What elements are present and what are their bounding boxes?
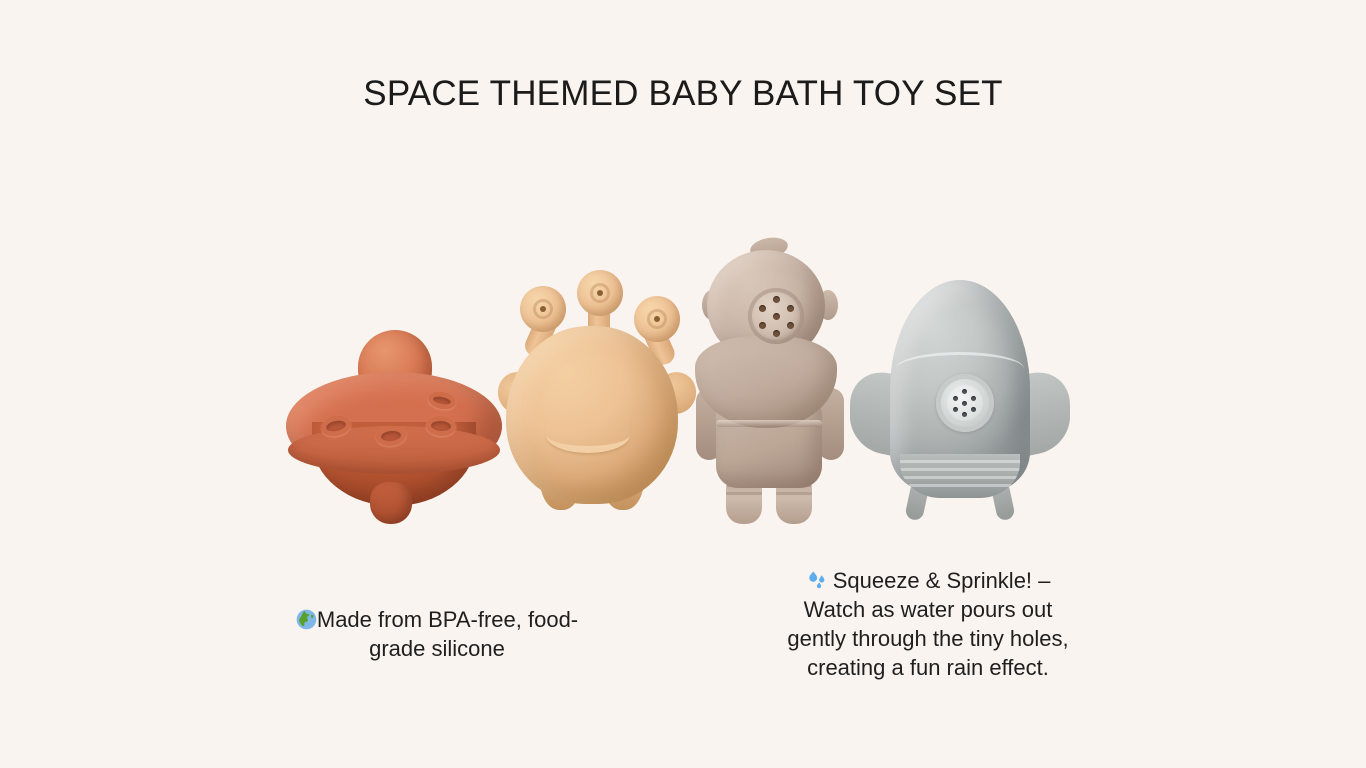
porthole-hole [962, 401, 967, 406]
rocket-landing-leg [990, 481, 1016, 522]
astronaut-leg [726, 476, 762, 524]
ufo-ring-detail [375, 424, 407, 447]
ufo-underside [312, 422, 476, 506]
alien-foot [602, 480, 644, 510]
visor-hole [773, 313, 780, 320]
astronaut-arm [696, 388, 722, 460]
rocket-base-rib [900, 468, 1020, 471]
product-image-group [0, 0, 1366, 768]
caption-material-text: Made from BPA-free, food-grade silicone [317, 607, 578, 661]
visor-hole [759, 322, 766, 329]
astronaut-leg-rib [726, 492, 762, 495]
astronaut-shoulder-cape [695, 336, 837, 428]
alien-arm [650, 367, 701, 419]
porthole-hole [953, 396, 958, 401]
visor-hole [773, 330, 780, 337]
astronaut-torso [716, 390, 822, 488]
alien-eye [634, 296, 680, 342]
caption-feature-text: Squeeze & Sprinkle! – Watch as water pou… [787, 568, 1068, 680]
rocket-base-rib [900, 476, 1020, 479]
rocket-fin [850, 365, 916, 461]
alien-eye-stalk [636, 310, 678, 368]
caption-material: Made from BPA-free, food-grade silicone [287, 605, 587, 663]
alien-eye-ring [647, 309, 667, 329]
rocket-porthole [936, 374, 994, 432]
rocket-base-rib [900, 484, 1020, 487]
alien-smile [546, 416, 630, 453]
alien-arm [492, 367, 543, 419]
ufo-collar [349, 384, 441, 410]
alien-eye-stalk [522, 300, 565, 360]
astronaut-arm [818, 388, 844, 460]
alien-pupil [540, 306, 546, 312]
alien-eye [520, 286, 566, 332]
astronaut-helmet [707, 250, 825, 362]
astronaut-visor [748, 288, 804, 344]
alien-pupil [654, 316, 660, 322]
visor-hole [759, 305, 766, 312]
visor-hole [773, 296, 780, 303]
visor-hole [787, 322, 794, 329]
rocket-landing-leg [904, 481, 930, 522]
astronaut-helmet-side-knob [702, 290, 722, 320]
alien-eye-ring [533, 299, 553, 319]
rocket-base-rib [900, 460, 1020, 463]
toy-ufo [286, 330, 502, 520]
alien-eye-ring [590, 283, 610, 303]
astronaut-helmet-side-knob [818, 290, 838, 320]
ufo-saucer [286, 372, 502, 480]
astronaut-leg [776, 476, 812, 524]
astronaut-belt [716, 420, 822, 427]
toy-astronaut [690, 238, 850, 524]
rocket-seam [896, 352, 1024, 385]
alien-body [506, 326, 678, 504]
rocket-fin [1004, 365, 1070, 461]
ufo-ring-detail [319, 413, 353, 439]
ufo-rim [288, 426, 500, 474]
ufo-dome [358, 330, 432, 404]
slide-canvas: SPACE THEMED BABY BATH TOY SET [0, 0, 1366, 768]
rocket-body [890, 280, 1030, 494]
porthole-hole [971, 407, 976, 412]
porthole-hole [962, 412, 967, 417]
caption-feature: Squeeze & Sprinkle! – Watch as water pou… [778, 566, 1078, 682]
alien-eye [577, 270, 623, 316]
alien-pupil [597, 290, 603, 296]
astronaut-leg-rib [776, 492, 812, 495]
porthole-hole [971, 396, 976, 401]
ufo-ring-detail [425, 415, 456, 437]
rocket-base [900, 454, 1020, 498]
astronaut-leg-rib [776, 484, 812, 487]
astronaut-antenna-knob [749, 235, 790, 261]
sweat-droplets-icon [806, 570, 827, 591]
globe-europe-africa-icon [296, 609, 317, 630]
toy-rocket [848, 278, 1072, 522]
ufo-ring-detail [427, 389, 458, 411]
astronaut-leg-rib [726, 484, 762, 487]
porthole-hole [962, 389, 967, 394]
visor-hole [787, 305, 794, 312]
toy-alien [498, 268, 698, 510]
alien-foot [540, 480, 582, 510]
rocket-porthole-inner [947, 385, 983, 421]
ufo-stem [370, 482, 412, 524]
alien-eye-stalk [588, 288, 610, 350]
porthole-hole [953, 407, 958, 412]
page-title: SPACE THEMED BABY BATH TOY SET [0, 74, 1366, 114]
